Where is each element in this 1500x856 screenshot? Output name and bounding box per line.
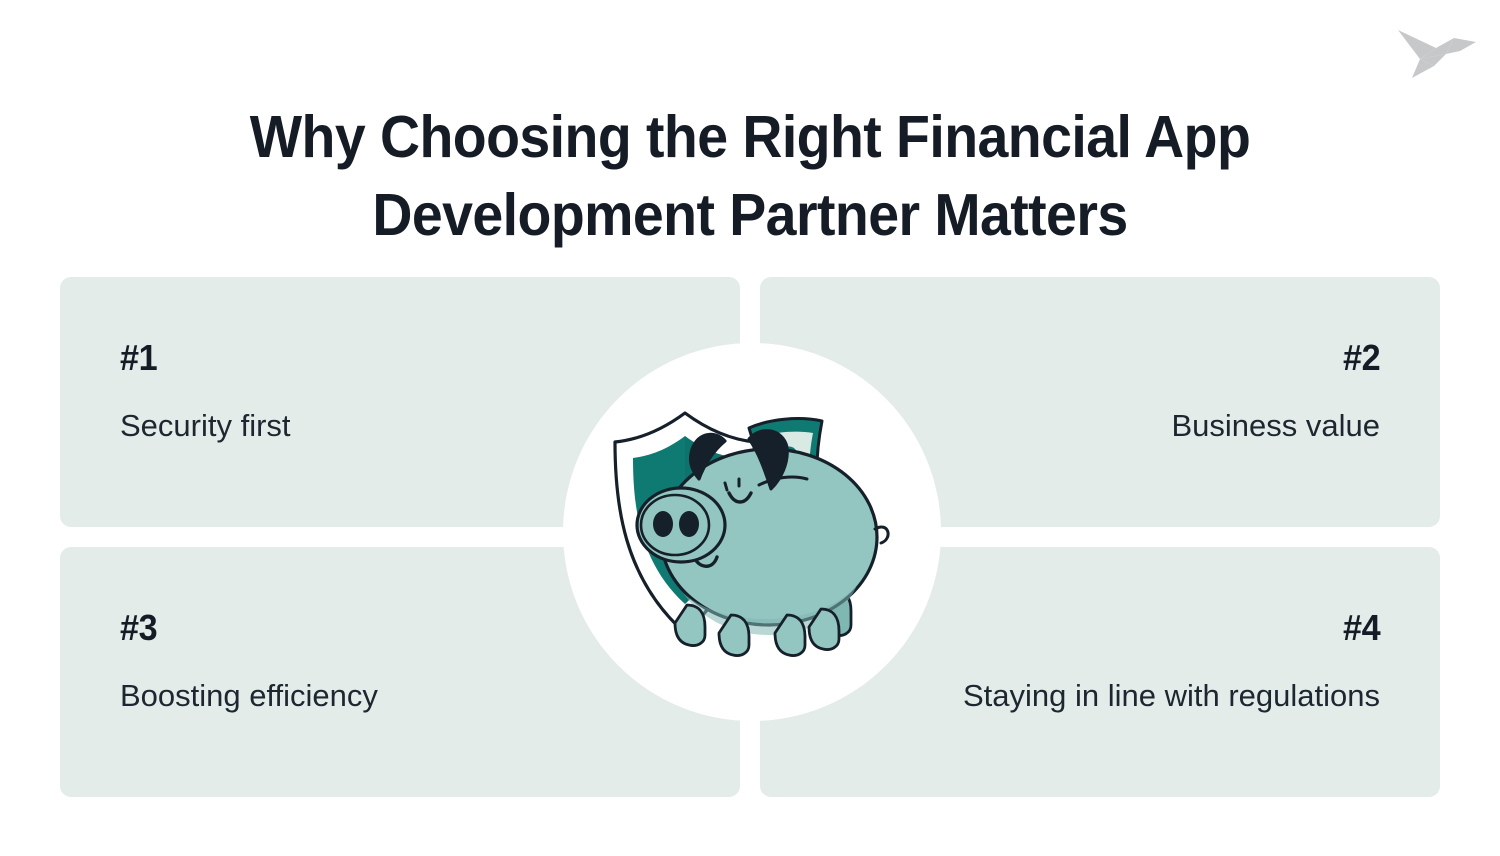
card-number-2: #2 [1343, 339, 1380, 377]
center-illustration-medallion [563, 343, 941, 721]
card-number-4: #4 [1343, 609, 1380, 647]
card-number-1: #1 [120, 339, 157, 377]
origami-bird-logo [1390, 18, 1482, 84]
page-title: Why Choosing the Right Financial App Dev… [45, 98, 1455, 254]
infographic-slide: Why Choosing the Right Financial App Dev… [0, 0, 1500, 856]
card-number-3: #3 [120, 609, 157, 647]
title-line-2: Development Partner Matters [45, 176, 1455, 254]
title-line-1: Why Choosing the Right Financial App [45, 98, 1455, 176]
